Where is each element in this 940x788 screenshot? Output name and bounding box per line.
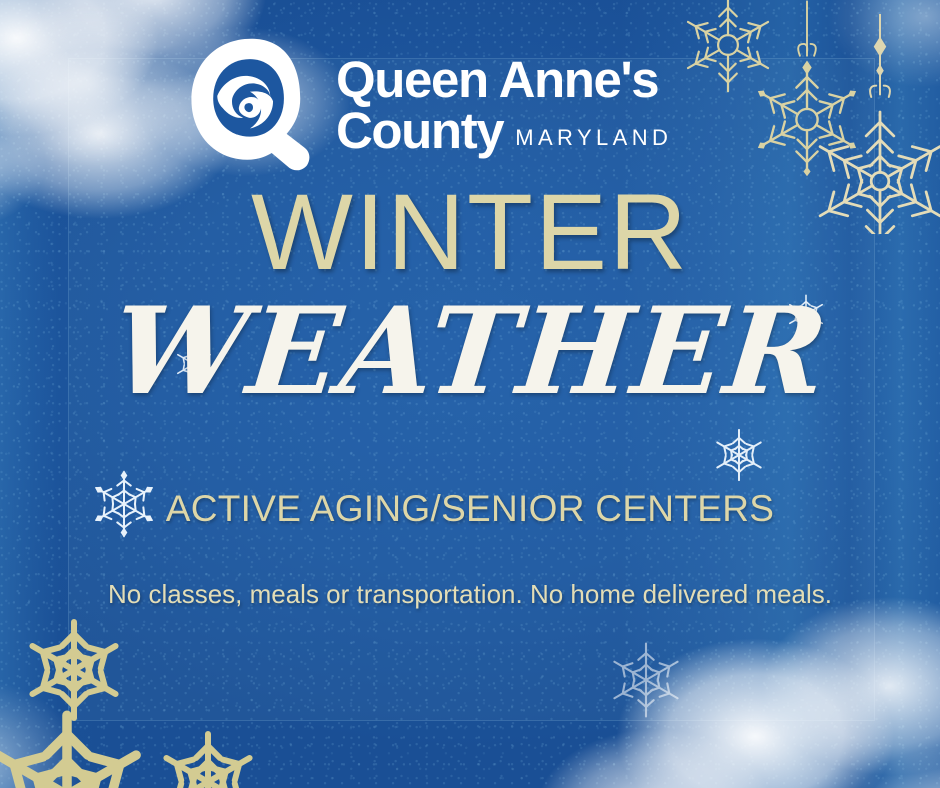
headline-winter: WINTER [0, 178, 940, 286]
logo-line-county: County [336, 105, 503, 157]
logo-line-queen-annes: Queen Anne's [336, 56, 672, 105]
headline-weather-script: WEATHER [0, 292, 940, 412]
closure-note: No classes, meals or transportation. No … [50, 578, 890, 611]
logo-line-maryland: MARYLAND [515, 125, 672, 151]
county-logo[interactable]: Queen Anne's County MARYLAND [186, 34, 672, 172]
subhead-active-aging-senior-centers: ACTIVE AGING/SENIOR CENTERS [120, 486, 820, 533]
queen-annes-county-q-logo-icon [186, 36, 322, 172]
winter-weather-announcement-poster: Queen Anne's County MARYLAND WINTER WEAT… [0, 0, 940, 788]
logo-wordmark: Queen Anne's County MARYLAND [336, 56, 672, 157]
